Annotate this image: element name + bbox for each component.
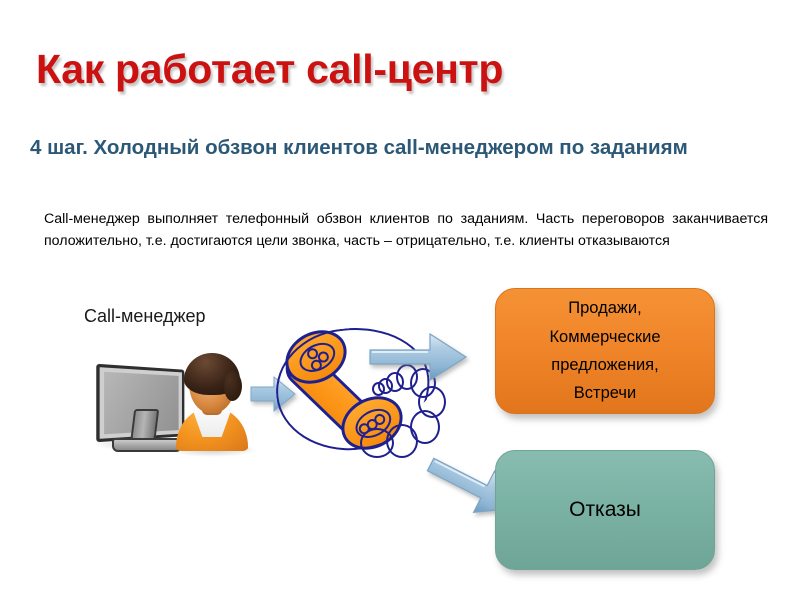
outcome-box-refusals[interactable]: Отказы: [495, 450, 715, 570]
outcome-box-refusals-text: Отказы: [569, 498, 641, 522]
operator-label: Call-менеджер: [84, 306, 206, 327]
arrow-right-icon: [368, 330, 468, 386]
outcome-box-sales[interactable]: Продажи, Коммерческие предложения, Встре…: [495, 288, 715, 414]
slide-subtitle: 4 шаг. Холодный обзвон клиентов call-мен…: [30, 134, 778, 161]
slide-subtitle-line-1: 4 шаг. Холодный обзвон клиентов call-мен…: [30, 136, 584, 159]
body-paragraph: Call-менеджер выполняет телефонный обзво…: [44, 208, 768, 252]
page-title: Как работает call-центр: [36, 46, 503, 93]
person-hair-side-icon: [224, 371, 242, 401]
outcome-line: предложения,: [549, 351, 660, 379]
person-at-computer-icon: [88, 345, 258, 460]
outcome-line: Встречи: [549, 379, 660, 407]
outcome-line: Продажи,: [549, 294, 660, 322]
outcome-line: Коммерческие: [549, 323, 660, 351]
slide-subtitle-line-2: заданиям: [590, 136, 688, 159]
outcome-box-sales-text: Продажи, Коммерческие предложения, Встре…: [549, 294, 660, 408]
